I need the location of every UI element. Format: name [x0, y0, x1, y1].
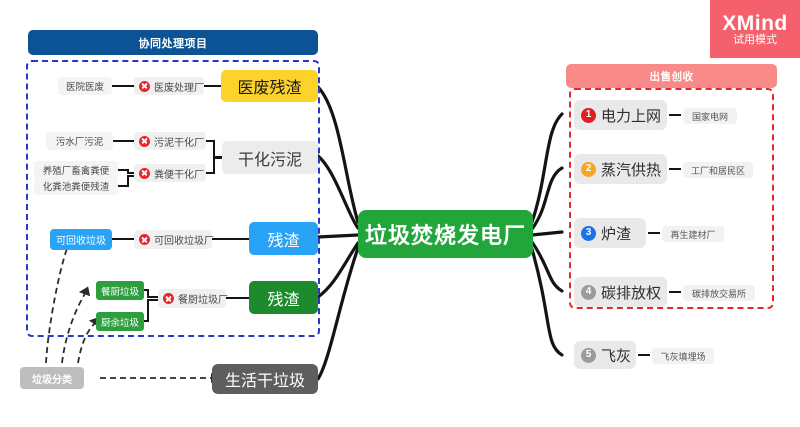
central-node[interactable]: 垃圾焚烧发电厂	[358, 210, 533, 258]
badge-number-3: 3	[581, 226, 596, 241]
plant-label: 粪便干化厂	[154, 166, 204, 181]
link-center-medwaste	[318, 87, 358, 222]
xmind-watermark: XMind 试用模式	[710, 0, 800, 58]
node-waste-classification[interactable]: 垃圾分类	[20, 367, 84, 389]
plant-manure-drying[interactable]: 粪便干化厂	[134, 164, 206, 182]
link-center-kitchen	[318, 243, 358, 297]
revenue-target-power[interactable]: 国家电网	[683, 108, 737, 124]
revenue-item-label: 炉渣	[601, 223, 631, 244]
badge-number-2: 2	[581, 162, 596, 177]
output-residue-kitchen[interactable]: 残渣	[249, 281, 318, 314]
link-center-recycle	[318, 235, 358, 237]
source-sewage-sludge[interactable]: 污水厂污泥	[46, 132, 113, 150]
revenue-target-steam[interactable]: 工厂和居民区	[683, 162, 753, 178]
revenue-item-power[interactable]: 1 电力上网	[574, 100, 667, 130]
plant-label: 医废处理厂	[154, 79, 204, 94]
factory-marker-icon	[139, 81, 150, 92]
plant-kitchen-waste[interactable]: 餐厨垃圾厂	[158, 289, 226, 308]
left-group-header: 协同处理项目	[28, 30, 318, 55]
plant-label: 可回收垃圾厂	[154, 232, 214, 247]
link-center-drywaste	[318, 248, 358, 379]
factory-marker-icon	[163, 293, 174, 304]
revenue-item-carbon[interactable]: 4 碳排放权	[574, 277, 667, 307]
source-hospital-waste[interactable]: 医院医废	[58, 77, 112, 95]
residue-target-flyash[interactable]: 飞灰填埋场	[652, 348, 714, 364]
link-center-sludge	[318, 156, 358, 228]
plant-sludge-drying[interactable]: 污泥干化厂	[134, 132, 206, 150]
plant-label: 餐厨垃圾厂	[178, 291, 228, 306]
factory-marker-icon	[139, 234, 150, 245]
link-center-flyash	[532, 249, 562, 355]
plant-label: 污泥干化厂	[154, 134, 204, 149]
source-canteen-waste[interactable]: 餐厨垃圾	[96, 281, 144, 300]
revenue-item-slag[interactable]: 3 炉渣	[574, 218, 646, 248]
output-dry-household-waste[interactable]: 生活干垃圾	[212, 364, 318, 394]
badge-number-5: 5	[581, 348, 596, 363]
revenue-item-label: 碳排放权	[601, 282, 661, 303]
factory-marker-icon	[139, 168, 150, 179]
source-recyclable-waste[interactable]: 可回收垃圾	[50, 229, 112, 250]
xmind-mode: 试用模式	[733, 35, 777, 46]
revenue-target-carbon[interactable]: 碳排放交易所	[683, 285, 755, 301]
link-center-slag	[532, 232, 562, 235]
residue-item-flyash[interactable]: 5 飞灰	[574, 341, 636, 369]
link-center-carbon	[532, 242, 562, 291]
revenue-item-label: 电力上网	[601, 105, 661, 126]
plant-recyclable[interactable]: 可回收垃圾厂	[134, 230, 212, 249]
plant-medical-waste[interactable]: 医废处理厂	[134, 77, 204, 95]
link-center-steam	[532, 168, 562, 229]
output-dried-sludge[interactable]: 干化污泥	[222, 141, 318, 174]
output-medical-residue[interactable]: 医废残渣	[221, 70, 318, 102]
output-residue-recyclable[interactable]: 残渣	[249, 222, 318, 255]
factory-marker-icon	[139, 136, 150, 147]
badge-number-4: 4	[581, 285, 596, 300]
source-septic-residue[interactable]: 化粪池粪便残渣	[34, 177, 118, 195]
xmind-brand: XMind	[722, 13, 788, 34]
source-kitchen-waste[interactable]: 厨余垃圾	[96, 312, 144, 331]
right-group-header: 出售创收	[566, 64, 777, 88]
residue-item-label: 飞灰	[601, 345, 631, 366]
mindmap-canvas: 协同处理项目 出售创收 垃圾焚烧发电厂 医院医废 医废处理厂 医废残渣 污水厂污…	[0, 0, 800, 427]
revenue-item-steam[interactable]: 2 蒸汽供热	[574, 154, 667, 184]
link-center-power	[532, 114, 562, 222]
revenue-target-slag[interactable]: 再生建材厂	[662, 226, 724, 242]
badge-number-1: 1	[581, 108, 596, 123]
revenue-item-label: 蒸汽供热	[601, 159, 661, 180]
